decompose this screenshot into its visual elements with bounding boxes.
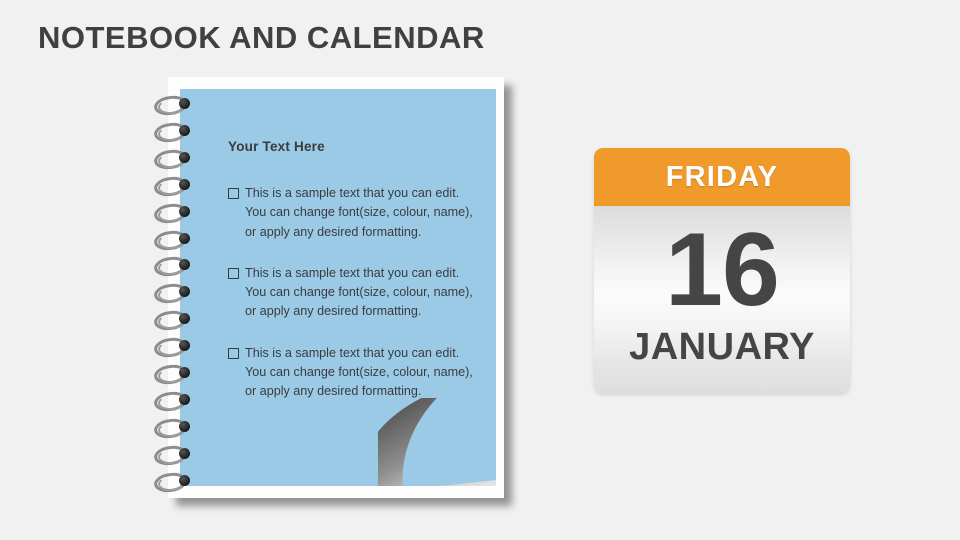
hollow-square-bullet-icon bbox=[228, 188, 239, 199]
calendar-day-number: 16 bbox=[594, 218, 850, 322]
list-item-text: This is a sample text that you can edit.… bbox=[245, 264, 476, 322]
list-item: This is a sample text that you can edit.… bbox=[228, 264, 476, 322]
list-item-text: This is a sample text that you can edit.… bbox=[245, 344, 476, 402]
notebook-text-block: Your Text Here This is a sample text tha… bbox=[228, 139, 476, 424]
calendar-widget: FRIDAY 16 JANUARY bbox=[594, 148, 850, 393]
calendar-body: 16 JANUARY bbox=[594, 206, 850, 393]
calendar-month-label: JANUARY bbox=[594, 325, 850, 369]
notebook-heading: Your Text Here bbox=[228, 139, 476, 154]
list-item: This is a sample text that you can edit.… bbox=[228, 344, 476, 402]
hollow-square-bullet-icon bbox=[228, 348, 239, 359]
page-title: NOTEBOOK AND CALENDAR bbox=[38, 20, 485, 56]
list-item-text: This is a sample text that you can edit.… bbox=[245, 184, 476, 242]
calendar-weekday-label: FRIDAY bbox=[666, 161, 778, 194]
list-item: This is a sample text that you can edit.… bbox=[228, 184, 476, 242]
notebook-blue-page: Your Text Here This is a sample text tha… bbox=[180, 89, 496, 486]
notebook-graphic: Your Text Here This is a sample text tha… bbox=[168, 77, 504, 498]
hollow-square-bullet-icon bbox=[228, 268, 239, 279]
calendar-header: FRIDAY bbox=[594, 148, 850, 206]
